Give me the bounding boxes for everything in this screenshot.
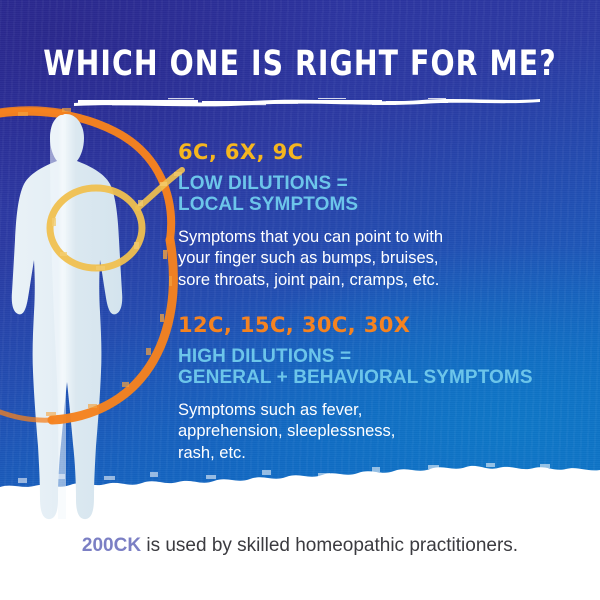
human-body-silhouette bbox=[12, 114, 123, 519]
block-high-body-line1: Symptoms such as fever, bbox=[178, 400, 533, 422]
footer-potency-code: 200CK bbox=[82, 535, 141, 556]
page-title: WHICH ONE IS RIGHT FOR ME? bbox=[30, 44, 570, 84]
block-low-subhead-line2: LOCAL SYMPTOMS bbox=[178, 194, 443, 215]
dilution-block-low: 6C, 6X, 9C LOW DILUTIONS = LOCAL SYMPTOM… bbox=[178, 140, 443, 292]
dilution-block-high: 12C, 15C, 30C, 30X HIGH DILUTIONS = GENE… bbox=[178, 313, 533, 465]
block-high-subhead-line1: HIGH DILUTIONS = bbox=[178, 346, 533, 367]
infographic-poster: WHICH ONE IS RIGHT FOR ME? bbox=[0, 0, 600, 600]
block-high-subhead: HIGH DILUTIONS = GENERAL + BEHAVIORAL SY… bbox=[178, 346, 533, 389]
block-low-subhead: LOW DILUTIONS = LOCAL SYMPTOMS bbox=[178, 173, 443, 216]
block-low-body-line2: your finger such as bumps, bruises, bbox=[178, 248, 443, 270]
block-high-body: Symptoms such as fever, apprehension, sl… bbox=[178, 400, 533, 465]
block-high-body-line3: rash, etc. bbox=[178, 443, 533, 465]
block-high-body-line2: apprehension, sleeplessness, bbox=[178, 421, 533, 443]
block-low-body: Symptoms that you can point to with your… bbox=[178, 227, 443, 292]
block-high-kicker: 12C, 15C, 30C, 30X bbox=[178, 313, 533, 337]
block-low-body-line3: sore throats, joint pain, cramps, etc. bbox=[178, 270, 443, 292]
block-high-subhead-line2: GENERAL + BEHAVIORAL SYMPTOMS bbox=[178, 367, 533, 388]
block-low-kicker: 6C, 6X, 9C bbox=[178, 140, 443, 164]
footer-note: 200CK is used by skilled homeopathic pra… bbox=[0, 535, 600, 557]
block-low-body-line1: Symptoms that you can point to with bbox=[178, 227, 443, 249]
block-low-subhead-line1: LOW DILUTIONS = bbox=[178, 173, 443, 194]
footer-note-text: is used by skilled homeopathic practitio… bbox=[141, 535, 518, 556]
